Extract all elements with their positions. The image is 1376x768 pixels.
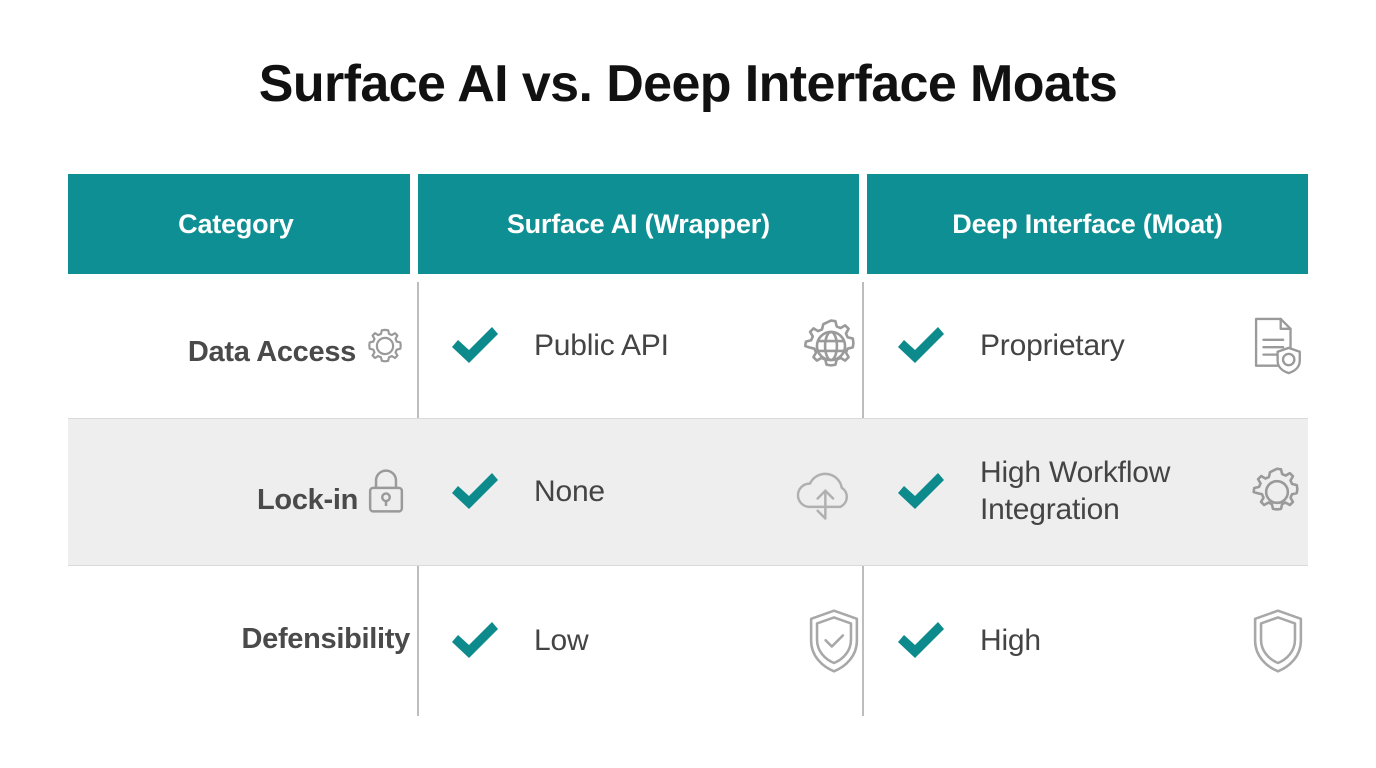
cell-category-data-access: Data Access: [68, 274, 418, 418]
table-row: Lock-in: [68, 418, 1308, 566]
cell-surface-data-access: Public API: [418, 274, 864, 418]
check-icon: [446, 463, 504, 521]
value-label: Proprietary: [980, 328, 1246, 365]
check-icon: [446, 317, 504, 375]
table-row: Defensibility Low: [68, 566, 1308, 716]
gear-icon: [1246, 461, 1308, 523]
lock-icon: [362, 465, 410, 519]
check-icon: [446, 612, 504, 670]
cell-surface-lock-in: None: [418, 419, 864, 565]
value-label: None: [534, 474, 788, 511]
table-header-row: Category Surface AI (Wrapper) Deep Inter…: [68, 174, 1308, 274]
gear-icon: [360, 321, 410, 371]
cell-deep-defensibility: High: [864, 566, 1308, 716]
shield-icon: [1248, 606, 1308, 676]
cell-surface-defensibility: Low: [418, 566, 864, 716]
category-label: Data Access: [188, 338, 356, 371]
value-label: Low: [534, 623, 804, 660]
document-shield-icon: [1246, 314, 1308, 378]
value-label: High: [980, 623, 1248, 660]
page-title: Surface AI vs. Deep Interface Moats: [0, 55, 1376, 115]
category-label: Lock-in: [257, 486, 358, 519]
comparison-table: Category Surface AI (Wrapper) Deep Inter…: [68, 174, 1308, 716]
column-header-category: Category: [68, 174, 410, 274]
cell-deep-data-access: Proprietary: [864, 274, 1308, 418]
category-label: Defensibility: [241, 625, 410, 658]
cell-category-defensibility: Defensibility: [68, 566, 418, 716]
table-row: Data Access: [68, 274, 1308, 418]
value-label: High Workflow Integration: [980, 455, 1246, 528]
cell-category-lock-in: Lock-in: [68, 419, 418, 565]
column-header-surface-ai: Surface AI (Wrapper): [418, 174, 859, 274]
check-icon: [892, 612, 950, 670]
check-icon: [892, 317, 950, 375]
globe-gear-icon: [798, 313, 864, 379]
cell-deep-lock-in: High Workflow Integration: [864, 419, 1308, 565]
cloud-upload-icon: [788, 461, 864, 523]
shield-check-icon: [804, 606, 864, 676]
table-body: Data Access: [68, 274, 1308, 716]
column-header-deep-interface: Deep Interface (Moat): [867, 174, 1308, 274]
slide-canvas: Surface AI vs. Deep Interface Moats Cate…: [0, 0, 1376, 768]
value-label: Public API: [534, 328, 798, 365]
check-icon: [892, 463, 950, 521]
